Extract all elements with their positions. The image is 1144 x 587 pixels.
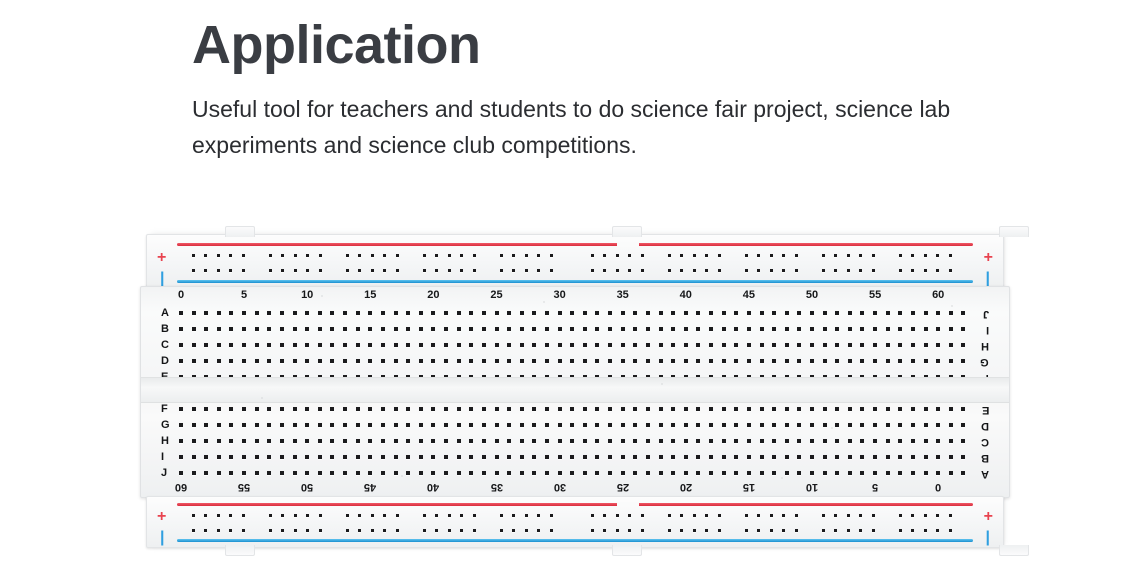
column-tick-30: 30 bbox=[553, 290, 565, 301]
breadboard-hole bbox=[381, 471, 385, 475]
breadboard-hole bbox=[747, 455, 751, 459]
breadboard-hole bbox=[280, 455, 284, 459]
breadboard-hole bbox=[419, 471, 423, 475]
breadboard-hole bbox=[255, 327, 259, 331]
breadboard-hole bbox=[217, 529, 220, 532]
column-tick-25: 25 bbox=[490, 290, 502, 301]
column-tick-10: 10 bbox=[301, 290, 313, 301]
breadboard-hole bbox=[419, 359, 423, 363]
breadboard-hole bbox=[419, 439, 423, 443]
breadboard-hole bbox=[671, 471, 675, 475]
breadboard-hole bbox=[745, 254, 748, 257]
breadboard-hole bbox=[608, 343, 612, 347]
breadboard-hole bbox=[444, 311, 448, 315]
breadboard-hole bbox=[570, 311, 574, 315]
breadboard-hole bbox=[242, 423, 246, 427]
breadboard-hole bbox=[848, 327, 852, 331]
breadboard-hole bbox=[306, 254, 309, 257]
breadboard-hole bbox=[431, 439, 435, 443]
breadboard-hole bbox=[872, 269, 875, 272]
breadboard-hole bbox=[343, 455, 347, 459]
breadboard-hole bbox=[204, 327, 208, 331]
breadboard-hole bbox=[641, 254, 644, 257]
breadboard-hole bbox=[242, 327, 246, 331]
breadboard-hole bbox=[797, 311, 801, 315]
breadboard-hole bbox=[747, 407, 751, 411]
breadboard-hole bbox=[911, 423, 915, 427]
breadboard-hole bbox=[305, 343, 309, 347]
breadboard-hole bbox=[179, 311, 183, 315]
breadboard-hole bbox=[757, 269, 760, 272]
breadboard-hole bbox=[558, 423, 562, 427]
breadboard-hole bbox=[760, 327, 764, 331]
breadboard-hole bbox=[267, 311, 271, 315]
breadboard-hole bbox=[394, 327, 398, 331]
breadboard-hole bbox=[886, 327, 890, 331]
breadboard-hole bbox=[924, 269, 927, 272]
breadboard-hole bbox=[705, 254, 708, 257]
breadboard-hole bbox=[797, 343, 801, 347]
breadboard-hole bbox=[684, 455, 688, 459]
breadboard-hole bbox=[860, 311, 864, 315]
breadboard-hole bbox=[693, 254, 696, 257]
breadboard-hole bbox=[693, 529, 696, 532]
breadboard-hole bbox=[558, 359, 562, 363]
breadboard-hole bbox=[306, 529, 309, 532]
breadboard-hole bbox=[356, 327, 360, 331]
breadboard-hole bbox=[583, 327, 587, 331]
breadboard-hole bbox=[204, 423, 208, 427]
breadboard-hole bbox=[192, 423, 196, 427]
breadboard-hole bbox=[595, 359, 599, 363]
breadboard-hole bbox=[848, 359, 852, 363]
breadboard-hole bbox=[444, 471, 448, 475]
breadboard-hole bbox=[204, 529, 207, 532]
breadboard-hole bbox=[595, 471, 599, 475]
breadboard-hole bbox=[383, 269, 386, 272]
breadboard-hole bbox=[810, 471, 814, 475]
breadboard-hole bbox=[680, 529, 683, 532]
breadboard-hole bbox=[823, 311, 827, 315]
breadboard-hole bbox=[406, 311, 410, 315]
breadboard-hole bbox=[520, 471, 524, 475]
breadboard-hole bbox=[570, 359, 574, 363]
breadboard-hole bbox=[961, 359, 965, 363]
breadboard-hole bbox=[757, 529, 760, 532]
breadboard-hole bbox=[457, 439, 461, 443]
breadboard-hole bbox=[406, 471, 410, 475]
breadboard-hole bbox=[500, 529, 503, 532]
breadboard-hole bbox=[924, 423, 928, 427]
breadboard-hole bbox=[696, 439, 700, 443]
breadboard-hole bbox=[646, 439, 650, 443]
breadboard-hole bbox=[911, 254, 914, 257]
bottom-rail-minus-icon-left: | bbox=[160, 530, 164, 546]
breadboard-hole bbox=[608, 471, 612, 475]
breadboard-hole bbox=[835, 407, 839, 411]
breadboard-hole bbox=[924, 343, 928, 347]
breadboard-hole bbox=[343, 423, 347, 427]
breadboard-hole bbox=[242, 407, 246, 411]
breadboard-hole bbox=[469, 423, 473, 427]
breadboard-hole bbox=[834, 254, 837, 257]
breadboard-hole bbox=[822, 254, 825, 257]
breadboard-hole bbox=[512, 269, 515, 272]
column-tick-0: 0 bbox=[935, 481, 941, 492]
breadboard-hole bbox=[671, 455, 675, 459]
top-power-rail: + | + | bbox=[146, 234, 1004, 289]
breadboard-hole bbox=[356, 471, 360, 475]
breadboard-hole bbox=[545, 343, 549, 347]
row-label-j: J bbox=[161, 468, 167, 479]
breadboard-hole bbox=[500, 514, 503, 517]
breadboard-hole bbox=[507, 455, 511, 459]
breadboard-hole bbox=[305, 471, 309, 475]
breadboard-hole bbox=[936, 439, 940, 443]
breadboard-hole bbox=[537, 529, 540, 532]
breadboard-hole bbox=[305, 455, 309, 459]
breadboard-hole bbox=[722, 455, 726, 459]
breadboard-hole bbox=[847, 254, 850, 257]
row-label-c: C bbox=[981, 436, 989, 447]
breadboard-hole bbox=[873, 423, 877, 427]
breadboard-hole bbox=[734, 439, 738, 443]
breadboard-hole bbox=[936, 269, 939, 272]
breadboard-hole bbox=[330, 407, 334, 411]
breadboard-hole bbox=[583, 455, 587, 459]
breadboard-hole bbox=[217, 423, 221, 427]
breadboard-hole bbox=[859, 514, 862, 517]
breadboard-hole bbox=[435, 269, 438, 272]
breadboard-hole bbox=[595, 423, 599, 427]
breadboard-hole bbox=[899, 269, 902, 272]
breadboard-hole bbox=[192, 311, 196, 315]
breadboard-hole bbox=[306, 514, 309, 517]
breadboard-hole bbox=[520, 359, 524, 363]
breadboard-hole bbox=[705, 514, 708, 517]
breadboard-hole bbox=[368, 327, 372, 331]
breadboard-hole bbox=[936, 455, 940, 459]
breadboard-hole bbox=[482, 439, 486, 443]
breadboard-hole bbox=[532, 455, 536, 459]
breadboard-hole bbox=[469, 407, 473, 411]
breadboard-hole bbox=[859, 529, 862, 532]
breadboard-hole bbox=[507, 311, 511, 315]
breadboard-hole bbox=[368, 455, 372, 459]
breadboard-hole bbox=[591, 514, 594, 517]
breadboard-hole bbox=[520, 343, 524, 347]
breadboard-hole bbox=[435, 514, 438, 517]
breadboard-hole bbox=[558, 439, 562, 443]
breadboard-hole bbox=[371, 254, 374, 257]
breadboard-hole bbox=[949, 455, 953, 459]
breadboard-hole bbox=[343, 407, 347, 411]
breadboard-hole bbox=[457, 455, 461, 459]
breadboard-hole bbox=[330, 327, 334, 331]
breadboard-hole bbox=[745, 529, 748, 532]
breadboard-hole bbox=[192, 359, 196, 363]
breadboard-hole bbox=[834, 514, 837, 517]
top-rail-plus-icon-left: + bbox=[157, 250, 166, 266]
breadboard-hole bbox=[394, 359, 398, 363]
breadboard-hole bbox=[280, 439, 284, 443]
breadboard-hole bbox=[608, 359, 612, 363]
top-rail-positive-line bbox=[177, 243, 973, 246]
breadboard-hole bbox=[772, 359, 776, 363]
breadboard-hole bbox=[330, 343, 334, 347]
breadboard-hole bbox=[936, 529, 939, 532]
breadboard-hole bbox=[469, 327, 473, 331]
column-tick-15: 15 bbox=[743, 481, 755, 492]
breadboard-hole bbox=[911, 311, 915, 315]
breadboard-hole bbox=[204, 514, 207, 517]
breadboard-hole bbox=[229, 311, 233, 315]
breadboard-hole bbox=[267, 407, 271, 411]
breadboard-hole bbox=[772, 471, 776, 475]
breadboard-hole bbox=[961, 423, 965, 427]
breadboard-hole bbox=[760, 423, 764, 427]
row-label-c: C bbox=[161, 340, 169, 351]
breadboard-hole bbox=[810, 423, 814, 427]
breadboard-hole bbox=[608, 455, 612, 459]
breadboard-hole bbox=[924, 455, 928, 459]
breadboard-hole bbox=[924, 471, 928, 475]
breadboard-hole bbox=[823, 359, 827, 363]
breadboard-hole bbox=[537, 514, 540, 517]
breadboard-hole bbox=[204, 311, 208, 315]
breadboard-hole bbox=[532, 423, 536, 427]
breadboard-hole bbox=[229, 343, 233, 347]
breadboard-hole bbox=[936, 407, 940, 411]
breadboard-hole bbox=[595, 311, 599, 315]
breadboard-hole bbox=[823, 439, 827, 443]
breadboard-hole bbox=[772, 311, 776, 315]
breadboard-hole bbox=[293, 343, 297, 347]
breadboard-hole bbox=[570, 471, 574, 475]
surface-speckle bbox=[261, 397, 263, 399]
breadboard-hole bbox=[621, 343, 625, 347]
breadboard-hole bbox=[859, 269, 862, 272]
breadboard-hole bbox=[705, 269, 708, 272]
breadboard-hole bbox=[343, 359, 347, 363]
breadboard-hole bbox=[797, 327, 801, 331]
breadboard-hole bbox=[293, 471, 297, 475]
breadboard-hole bbox=[473, 514, 476, 517]
breadboard-hole bbox=[797, 407, 801, 411]
breadboard-hole bbox=[217, 269, 220, 272]
breadboard-hole bbox=[772, 423, 776, 427]
breadboard-hole bbox=[435, 529, 438, 532]
breadboard-hole bbox=[419, 423, 423, 427]
breadboard-hole bbox=[525, 529, 528, 532]
breadboard-hole bbox=[368, 311, 372, 315]
breadboard-hole bbox=[293, 423, 297, 427]
breadboard-hole bbox=[949, 471, 953, 475]
breadboard-hole bbox=[204, 407, 208, 411]
breadboard-hole bbox=[242, 514, 245, 517]
breadboard-hole bbox=[192, 327, 196, 331]
breadboard-hole bbox=[242, 529, 245, 532]
breadboard-hole bbox=[396, 529, 399, 532]
breadboard-hole bbox=[785, 311, 789, 315]
mounting-tab-top-center bbox=[612, 226, 642, 237]
breadboard-hole bbox=[537, 254, 540, 257]
breadboard-hole bbox=[659, 455, 663, 459]
breadboard-hole bbox=[616, 529, 619, 532]
mounting-tab-bottom-right bbox=[999, 545, 1029, 556]
breadboard-hole bbox=[859, 254, 862, 257]
row-label-d: D bbox=[981, 420, 989, 431]
breadboard-hole bbox=[381, 407, 385, 411]
breadboard-hole bbox=[396, 254, 399, 257]
breadboard-hole bbox=[396, 269, 399, 272]
breadboard-hole bbox=[305, 407, 309, 411]
breadboard-hole bbox=[810, 439, 814, 443]
breadboard-hole bbox=[709, 455, 713, 459]
breadboard-hole bbox=[722, 359, 726, 363]
breadboard-hole bbox=[469, 439, 473, 443]
breadboard-hole bbox=[722, 407, 726, 411]
breadboard-hole bbox=[847, 514, 850, 517]
breadboard-hole bbox=[961, 471, 965, 475]
breadboard-hole bbox=[423, 254, 426, 257]
breadboard-hole bbox=[684, 311, 688, 315]
breadboard-hole bbox=[886, 407, 890, 411]
breadboard-hole bbox=[383, 254, 386, 257]
breadboard-hole bbox=[848, 471, 852, 475]
breadboard-hole bbox=[242, 359, 246, 363]
breadboard-hole bbox=[204, 439, 208, 443]
breadboard-hole bbox=[936, 471, 940, 475]
breadboard-hole bbox=[532, 471, 536, 475]
breadboard-hole bbox=[734, 359, 738, 363]
breadboard-hole bbox=[460, 254, 463, 257]
breadboard-hole bbox=[269, 529, 272, 532]
breadboard-hole bbox=[693, 514, 696, 517]
breadboard-hole bbox=[705, 529, 708, 532]
breadboard-hole bbox=[722, 311, 726, 315]
row-label-a: A bbox=[161, 308, 169, 319]
row-label-e: E bbox=[982, 404, 989, 415]
breadboard-hole bbox=[192, 269, 195, 272]
breadboard-hole bbox=[495, 471, 499, 475]
breadboard-hole bbox=[847, 529, 850, 532]
breadboard-hole bbox=[343, 439, 347, 443]
breadboard-hole bbox=[898, 311, 902, 315]
row-label-g: G bbox=[980, 356, 989, 367]
breadboard-hole bbox=[381, 455, 385, 459]
breadboard-hole bbox=[293, 359, 297, 363]
breadboard-hole bbox=[718, 254, 721, 257]
breadboard-hole bbox=[469, 455, 473, 459]
breadboard-hole bbox=[431, 359, 435, 363]
heading-block: Application Useful tool for teachers and… bbox=[192, 18, 1092, 163]
breadboard-hole bbox=[628, 269, 631, 272]
breadboard-hole bbox=[785, 359, 789, 363]
breadboard-hole bbox=[457, 359, 461, 363]
breadboard-hole bbox=[848, 439, 852, 443]
breadboard-hole bbox=[591, 269, 594, 272]
breadboard-hole bbox=[368, 423, 372, 427]
breadboard-hole bbox=[217, 514, 220, 517]
column-tick-60: 60 bbox=[175, 481, 187, 492]
breadboard-hole bbox=[305, 423, 309, 427]
breadboard-hole bbox=[457, 407, 461, 411]
breadboard-hole bbox=[267, 359, 271, 363]
breadboard-hole bbox=[330, 471, 334, 475]
breadboard-hole bbox=[772, 327, 776, 331]
breadboard-hole bbox=[520, 311, 524, 315]
breadboard-hole bbox=[280, 407, 284, 411]
breadboard-hole bbox=[545, 423, 549, 427]
breadboard-hole bbox=[179, 471, 183, 475]
breadboard-hole bbox=[500, 269, 503, 272]
terminal-strip: 051015202530354045505560 ABCDE JIHGF FGH… bbox=[140, 286, 1010, 498]
breadboard-hole bbox=[722, 471, 726, 475]
bottom-rail-plus-icon-right: + bbox=[984, 509, 993, 525]
breadboard-hole bbox=[911, 359, 915, 363]
breadboard-hole bbox=[520, 439, 524, 443]
breadboard-hole bbox=[507, 343, 511, 347]
breadboard-hole bbox=[747, 423, 751, 427]
breadboard-hole bbox=[444, 343, 448, 347]
breadboard-hole bbox=[659, 343, 663, 347]
breadboard-hole bbox=[267, 439, 271, 443]
breadboard-hole bbox=[343, 327, 347, 331]
breadboard-hole bbox=[457, 327, 461, 331]
breadboard-hole bbox=[242, 269, 245, 272]
breadboard-hole bbox=[570, 455, 574, 459]
breadboard-hole bbox=[269, 269, 272, 272]
breadboard-hole bbox=[512, 514, 515, 517]
breadboard-hole bbox=[718, 269, 721, 272]
breadboard-hole bbox=[482, 343, 486, 347]
breadboard-hole bbox=[898, 439, 902, 443]
breadboard-hole bbox=[961, 407, 965, 411]
breadboard-hole bbox=[734, 327, 738, 331]
breadboard-hole bbox=[204, 269, 207, 272]
breadboard-hole bbox=[772, 439, 776, 443]
breadboard-hole bbox=[680, 269, 683, 272]
breadboard-hole bbox=[797, 359, 801, 363]
breadboard-hole bbox=[696, 423, 700, 427]
breadboard-hole bbox=[628, 514, 631, 517]
breadboard-hole bbox=[646, 311, 650, 315]
breadboard-hole bbox=[848, 343, 852, 347]
breadboard-hole bbox=[318, 423, 322, 427]
breadboard-hole bbox=[448, 254, 451, 257]
breadboard-hole bbox=[319, 269, 322, 272]
breadboard-hole bbox=[911, 269, 914, 272]
breadboard-hole bbox=[356, 423, 360, 427]
breadboard-hole bbox=[616, 269, 619, 272]
breadboard-hole bbox=[668, 254, 671, 257]
breadboard-hole bbox=[558, 455, 562, 459]
breadboard-hole bbox=[772, 455, 776, 459]
breadboard-hole bbox=[520, 423, 524, 427]
breadboard-hole bbox=[734, 471, 738, 475]
breadboard-hole bbox=[772, 343, 776, 347]
breadboard-hole bbox=[911, 439, 915, 443]
breadboard-hole bbox=[318, 343, 322, 347]
breadboard-hole bbox=[823, 471, 827, 475]
breadboard-hole bbox=[394, 455, 398, 459]
breadboard-hole bbox=[797, 471, 801, 475]
breadboard-hole bbox=[621, 471, 625, 475]
breadboard-hole bbox=[431, 423, 435, 427]
breadboard-hole bbox=[621, 455, 625, 459]
breadboard-hole bbox=[280, 359, 284, 363]
